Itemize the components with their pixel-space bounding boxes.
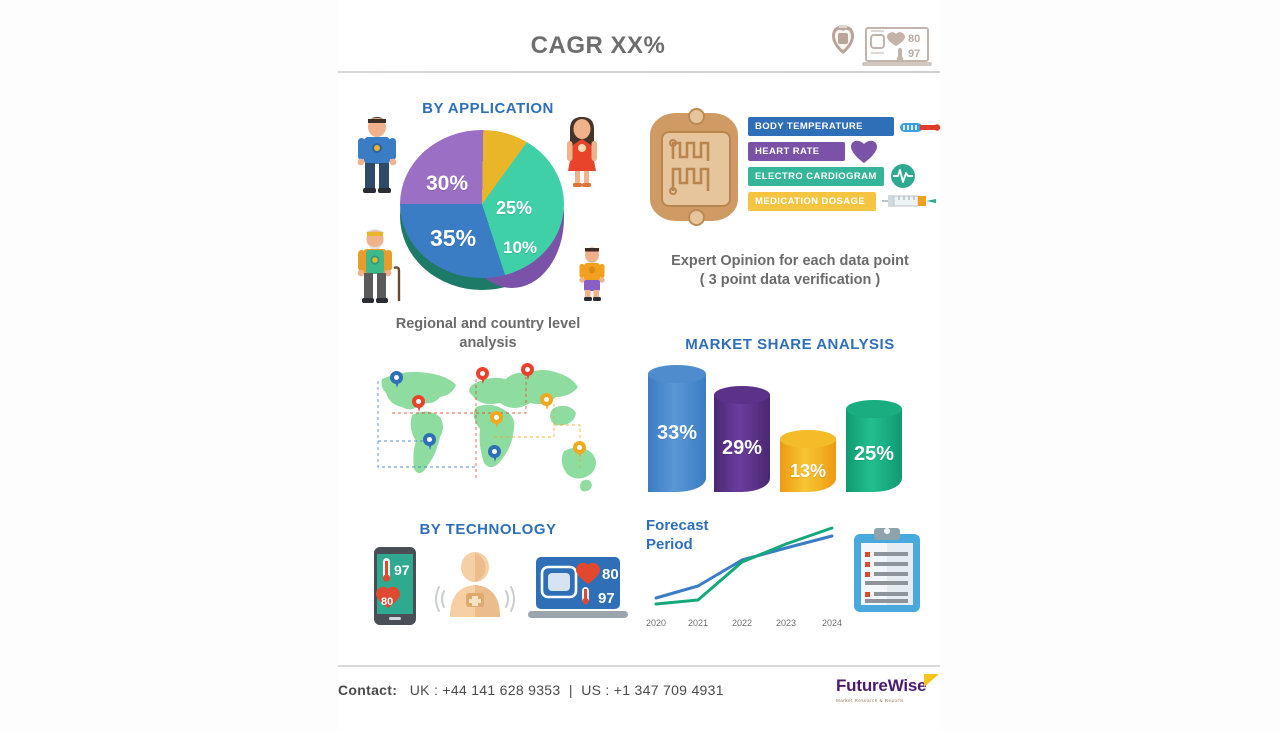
- right-bleed: [940, 0, 1280, 731]
- header: CAGR XX% 80 97: [338, 0, 940, 72]
- map-pin[interactable]: [390, 371, 403, 389]
- person-man-adult: [353, 115, 401, 200]
- bar-cylinder: 13%: [780, 439, 836, 492]
- svg-text:80: 80: [908, 33, 920, 45]
- contact-separator: |: [569, 682, 573, 698]
- forecast-chart: Forecast Period 2020 2021 2022 2023 2024: [640, 512, 940, 637]
- pie-chart: 30% 25% 35% 10%: [398, 120, 570, 300]
- contact-uk: UK : +44 141 628 9353: [410, 682, 561, 698]
- technology-devices: 97 80: [368, 545, 618, 640]
- vital-bar-heart-rate: HEART RATE: [748, 142, 845, 161]
- map-pin[interactable]: [490, 411, 503, 429]
- forecast-x-label: 2020: [638, 618, 674, 628]
- header-icons: 80 97: [828, 22, 940, 70]
- clipboard-checklist-icon: [852, 526, 922, 616]
- logo-swoosh-icon: [924, 674, 939, 687]
- regional-title-line-1: Regional and country level: [348, 315, 628, 334]
- map-pin[interactable]: [488, 445, 501, 463]
- logo-tagline: Market Research & Reports: [836, 698, 940, 703]
- laptop-monitor-icon: 80 97: [528, 557, 628, 628]
- svg-text:97: 97: [908, 48, 920, 60]
- ecg-icon: [890, 163, 924, 183]
- world-map: [368, 363, 608, 503]
- bar-value-label: 25%: [846, 443, 902, 466]
- vital-bar-electro-cardiogram: ELECTRO CARDIOGRAM: [748, 167, 884, 186]
- pie-label-10: 10%: [503, 238, 537, 258]
- header-divider: [338, 71, 940, 73]
- footer-divider: [338, 665, 940, 667]
- expert-line-1: Expert Opinion for each data point: [640, 252, 940, 271]
- by-technology-title: BY TECHNOLOGY: [378, 521, 598, 538]
- bar-value-label: 29%: [714, 437, 770, 460]
- market-share-title: MARKET SHARE ANALYSIS: [640, 336, 940, 353]
- regional-title-line-2: analysis: [348, 334, 628, 353]
- logo-brand-a: Future: [836, 676, 888, 695]
- map-pin[interactable]: [540, 393, 553, 411]
- svg-text:80: 80: [381, 596, 393, 608]
- forecast-x-label: 2024: [814, 618, 850, 628]
- vitals-panel: BODY TEMPERATURE HEART RATE ELECTRO CARD…: [650, 105, 940, 230]
- pie-label-25: 25%: [496, 198, 532, 219]
- bar-value-label: 33%: [648, 422, 706, 445]
- forecast-line-blue: [656, 536, 832, 598]
- vital-bar-body-temperature: BODY TEMPERATURE: [748, 117, 894, 136]
- infographic-page: CAGR XX% 80 97: [338, 0, 940, 731]
- market-share-bar-chart: 33% 29% 13% 25%: [640, 362, 940, 492]
- biosensor-patch-icon: [650, 113, 738, 221]
- syringe-icon: [882, 191, 916, 211]
- page-title: CAGR XX%: [338, 32, 858, 60]
- futurewise-logo: FutureWise Market Research & Reports: [836, 676, 940, 706]
- expert-opinion-block: Expert Opinion for each data point ( 3 p…: [640, 252, 940, 290]
- thermometer-icon: [900, 117, 934, 137]
- contact-line: Contact: UK : +44 141 628 9353 | US : +1…: [338, 682, 808, 698]
- regional-title: Regional and country level analysis: [348, 315, 628, 353]
- heart-icon: [850, 138, 884, 158]
- logo-brand-b: Wise: [888, 676, 927, 695]
- laptop-vitals-icon: 80 97: [862, 28, 932, 66]
- svg-text:97: 97: [394, 562, 410, 578]
- contact-label: Contact:: [338, 682, 397, 698]
- contact-us: US : +1 347 709 4931: [581, 682, 724, 698]
- forecast-x-label: 2023: [768, 618, 804, 628]
- map-pin[interactable]: [423, 433, 436, 451]
- map-pin[interactable]: [476, 367, 489, 385]
- map-pin[interactable]: [521, 363, 534, 381]
- bar-cylinder: 29%: [714, 395, 770, 492]
- svg-text:97: 97: [598, 590, 615, 607]
- map-pin[interactable]: [573, 441, 586, 459]
- smartphone-monitor-icon: 97 80: [374, 547, 416, 630]
- expert-line-2: ( 3 point data verification ): [640, 271, 940, 290]
- pie-label-35: 35%: [430, 225, 476, 252]
- bar-cylinder: 33%: [648, 374, 706, 492]
- left-bleed: [0, 0, 338, 731]
- body-sensor-patch-icon: [430, 551, 520, 626]
- bar-cylinder: 25%: [846, 409, 902, 492]
- vital-bar-medication-dosage: MEDICATION DOSAGE: [748, 192, 876, 211]
- heart-shield-icon: [832, 25, 854, 54]
- person-boy-child: [576, 245, 608, 308]
- forecast-x-label: 2022: [724, 618, 760, 628]
- pie-label-30: 30%: [426, 172, 468, 196]
- svg-text:80: 80: [602, 566, 619, 583]
- forecast-x-label: 2021: [680, 618, 716, 628]
- map-pin[interactable]: [412, 395, 425, 413]
- forecast-line-green: [656, 528, 832, 604]
- bar-value-label: 13%: [780, 461, 836, 482]
- pie-face: [400, 130, 564, 278]
